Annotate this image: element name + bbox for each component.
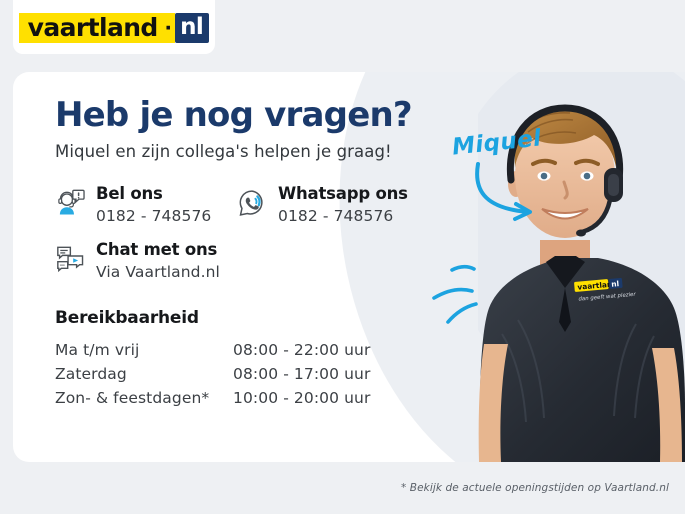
chat-bubbles-icon xyxy=(55,243,85,275)
footnote-text: * Bekijk de actuele openingstijden op Va… xyxy=(401,482,669,494)
contact-method-chat[interactable]: Chat met ons Via Vaartland.nl xyxy=(55,241,237,281)
table-row: Ma t/m vrij 08:00 - 22:00 uur xyxy=(55,338,370,362)
table-row: Zon- & feestdagen* 10:00 - 20:00 uur xyxy=(55,386,370,410)
contact-method-chat-text: Chat met ons Via Vaartland.nl xyxy=(96,241,220,281)
headset-person-icon xyxy=(55,187,85,219)
contact-method-whatsapp-text: Whatsapp ons 0182 - 748576 xyxy=(278,185,408,225)
accent-strokes-decoration xyxy=(432,248,498,326)
contact-method-call-value[interactable]: 0182 - 748576 xyxy=(96,207,211,225)
contact-method-call-title: Bel ons xyxy=(96,184,163,203)
opening-hours-day: Ma t/m vrij xyxy=(55,338,233,362)
contact-method-whatsapp[interactable]: Whatsapp ons 0182 - 748576 xyxy=(237,185,437,225)
brand-logo-lockup: vaartland · nl xyxy=(19,13,210,43)
table-row: Zaterdag 08:00 - 17:00 uur xyxy=(55,362,370,386)
opening-hours-time: 08:00 - 22:00 uur xyxy=(233,338,370,362)
opening-hours-time: 10:00 - 20:00 uur xyxy=(233,386,370,410)
svg-text:nl: nl xyxy=(611,279,620,289)
contact-method-chat-value[interactable]: Via Vaartland.nl xyxy=(96,263,220,281)
contact-methods-grid: Bel ons 0182 - 748576 Whatsapp ons 018 xyxy=(55,185,455,281)
contact-method-chat-title: Chat met ons xyxy=(96,240,217,259)
contact-method-whatsapp-title: Whatsapp ons xyxy=(278,184,408,203)
contact-method-whatsapp-value[interactable]: 0182 - 748576 xyxy=(278,207,408,225)
brand-logo-badge[interactable]: vaartland · nl xyxy=(13,0,215,54)
brand-logo-word: vaartland xyxy=(19,13,165,43)
opening-hours-table: Ma t/m vrij 08:00 - 22:00 uur Zaterdag 0… xyxy=(55,338,370,410)
curved-arrow-icon xyxy=(470,160,550,232)
contact-method-call-text: Bel ons 0182 - 748576 xyxy=(96,185,211,225)
opening-hours-day: Zon- & feestdagen* xyxy=(55,386,233,410)
whatsapp-icon xyxy=(237,187,267,219)
opening-hours-day: Zaterdag xyxy=(55,362,233,386)
contact-method-call[interactable]: Bel ons 0182 - 748576 xyxy=(55,185,237,225)
brand-logo-tld: nl xyxy=(175,13,209,43)
brand-logo-separator: · xyxy=(165,13,175,43)
opening-hours-time: 08:00 - 17:00 uur xyxy=(233,362,370,386)
